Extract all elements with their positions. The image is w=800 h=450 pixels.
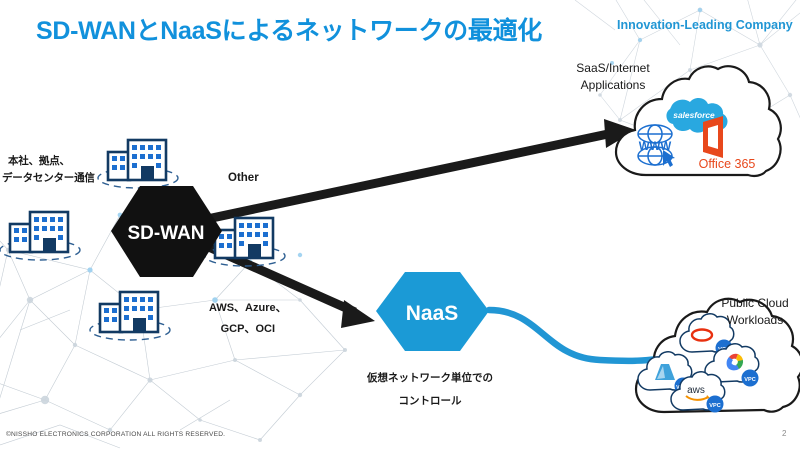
naas-caption-line1: 仮想ネットワーク単位での <box>350 367 510 390</box>
public-cloud-title: Public Cloud Workloads <box>710 295 800 329</box>
branch-sites-label: 本社、拠点、 データセンター通信 <box>8 153 95 187</box>
saas-cloud-title: SaaS/Internet Applications <box>565 60 661 94</box>
aws-label: aws <box>687 385 705 396</box>
site-building-bottom <box>90 292 170 340</box>
sdwan-node[interactable]: SD-WAN <box>111 186 222 277</box>
cloud-providers-label-line2: GCP、OCI <box>209 319 287 340</box>
footer-copyright: ©NISSHO ELECTRONICS CORPORATION ALL RIGH… <box>6 431 225 438</box>
branch-sites-label-line1: 本社、拠点、 <box>8 153 95 170</box>
company-tagline: Innovation-Leading Company <box>617 18 793 32</box>
page-number: 2 <box>782 429 786 438</box>
branch-sites-label-line2: データセンター通信 <box>2 170 95 187</box>
page-title: SD-WANとNaaSによるネットワークの最適化 <box>36 11 542 47</box>
site-building-top <box>98 140 178 188</box>
office365-label: Office 365 <box>699 157 756 171</box>
naas-node[interactable]: NaaS <box>376 272 489 351</box>
other-traffic-label: Other <box>228 172 259 184</box>
slide-canvas: SD-WAN NaaS salesforce <box>0 0 800 450</box>
naas-node-label: NaaS <box>406 302 459 325</box>
site-building-left <box>0 212 80 260</box>
sdwan-node-label: SD-WAN <box>127 223 204 244</box>
naas-caption: 仮想ネットワーク単位での コントロール <box>350 367 510 413</box>
saas-cloud-title-line2: Applications <box>565 77 661 94</box>
public-cloud-title-line1: Public Cloud <box>710 295 800 312</box>
vpc-badge-gcp: VPC <box>744 377 756 383</box>
www-label: WWW <box>639 141 672 153</box>
saas-cloud-title-line1: SaaS/Internet <box>565 60 661 77</box>
public-cloud-title-line2: Workloads <box>710 312 800 329</box>
cloud-providers-label: AWS、Azure、 GCP、OCI <box>209 298 287 340</box>
cloud-providers-label-line1: AWS、Azure、 <box>209 298 287 319</box>
salesforce-label: salesforce <box>673 110 715 120</box>
naas-caption-line2: コントロール <box>350 390 510 413</box>
vpc-badge-aws: VPC <box>709 403 721 409</box>
